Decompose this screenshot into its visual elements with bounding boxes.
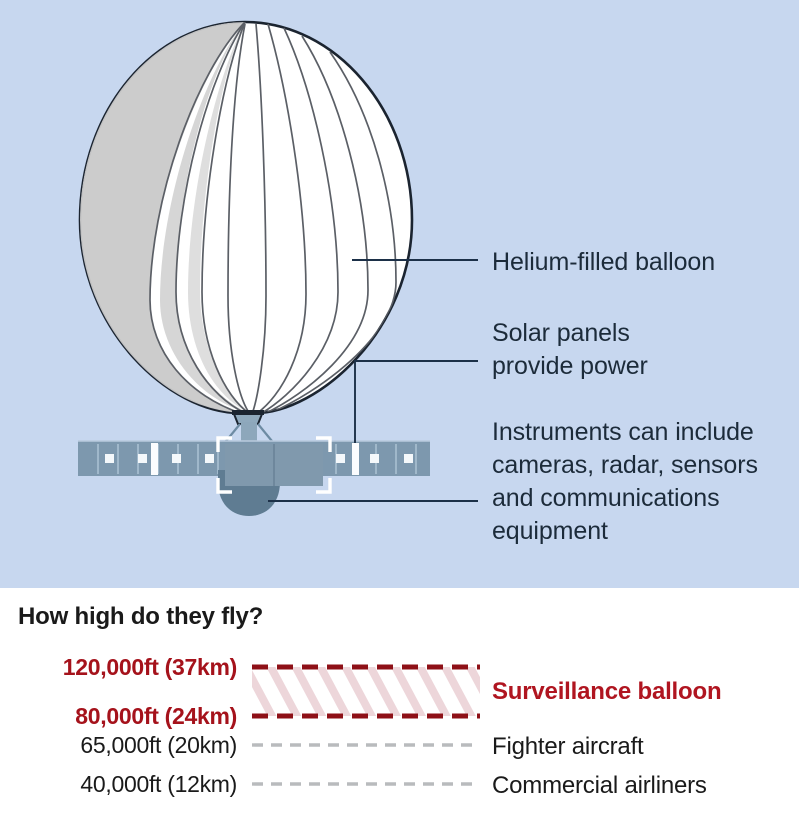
leader-solar-panels [355,361,478,443]
surveillance-balloon-band [252,667,480,716]
altitude-label-40000ft: 40,000ft (12km) [80,771,237,798]
series-label-surveillance-balloon: Surveillance balloon [492,678,721,706]
illustration-panel: Helium-filled balloon Solar panels provi… [0,0,799,588]
infographic-root: Helium-filled balloon Solar panels provi… [0,0,799,821]
gondola [218,438,330,492]
altitude-label-120000ft: 120,000ft (37km) [63,654,237,681]
callout-instruments: Instruments can include cameras, radar, … [492,416,758,548]
altitude-label-80000ft: 80,000ft (24km) [75,703,237,730]
altitude-chart-panel: How high do they fly? 120,000ft (37km) 8… [0,588,799,821]
series-label-fighter-aircraft: Fighter aircraft [492,733,644,761]
altitude-label-65000ft: 65,000ft (20km) [80,732,237,759]
balloon-neck [232,410,264,424]
balloon-envelope [80,22,412,414]
series-label-commercial-airliners: Commercial airliners [492,772,707,800]
callout-helium-balloon: Helium-filled balloon [492,246,715,279]
callout-solar-panels: Solar panels provide power [492,317,648,383]
